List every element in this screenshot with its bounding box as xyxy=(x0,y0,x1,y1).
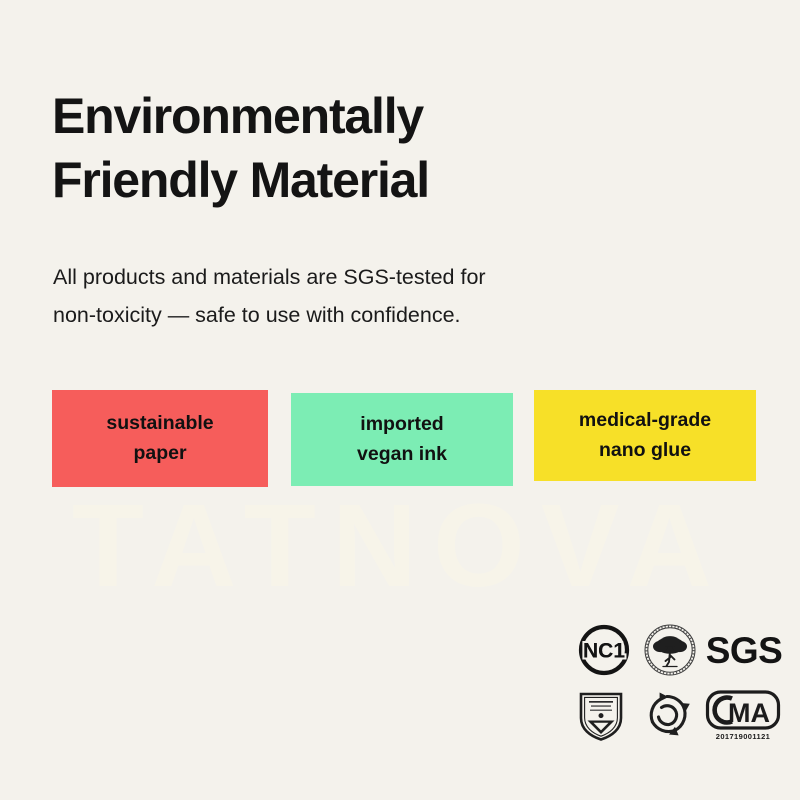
page-subtitle-line-1: All products and materials are SGS-teste… xyxy=(53,258,693,296)
material-chip-label-line-1: sustainable xyxy=(106,409,213,439)
certification-row-top: NC1 NC1 xyxy=(575,620,780,680)
cma-label: MA xyxy=(728,698,770,728)
material-chip-label-line-2: vegan ink xyxy=(357,440,447,470)
material-chip-label-line-1: imported xyxy=(360,410,443,440)
brand-watermark: TATNOVA xyxy=(0,487,800,605)
cma-code: 201719001121 xyxy=(716,733,770,741)
tree-seal-icon xyxy=(641,621,699,679)
nc1-icon: NC1 NC1 xyxy=(575,621,633,679)
page-subtitle: All products and materials are SGS-teste… xyxy=(53,258,693,335)
shield-icon xyxy=(575,687,627,743)
page-title-line-1: Environmentally xyxy=(52,84,692,148)
poster-canvas: TATNOVA Environmentally Friendly Materia… xyxy=(0,0,800,800)
certification-row-bottom: MA 201719001121 xyxy=(575,685,780,745)
material-chip-sustainable-paper: sustainable paper xyxy=(52,390,268,487)
sgs-icon: SGS xyxy=(707,628,781,672)
material-chip-label-line-2: nano glue xyxy=(599,436,691,466)
material-chip-imported-vegan-ink: imported vegan ink xyxy=(291,393,513,486)
certification-badge-group: NC1 NC1 xyxy=(575,620,780,752)
cma-icon: MA 201719001121 xyxy=(705,686,781,744)
page-title: Environmentally Friendly Material xyxy=(52,84,692,212)
material-chip-label-line-1: medical-grade xyxy=(579,406,711,436)
svg-text:NC1: NC1 xyxy=(583,640,625,663)
page-subtitle-line-2: non-toxicity — safe to use with confiden… xyxy=(53,296,693,334)
material-chip-label-line-2: paper xyxy=(133,439,186,469)
material-chip-medical-grade-nano-glue: medical-grade nano glue xyxy=(534,390,756,481)
page-title-line-2: Friendly Material xyxy=(52,148,692,212)
material-chip-group: sustainable paper imported vegan ink med… xyxy=(52,390,756,490)
recycle-icon xyxy=(641,687,693,743)
sgs-label: SGS xyxy=(706,632,783,669)
